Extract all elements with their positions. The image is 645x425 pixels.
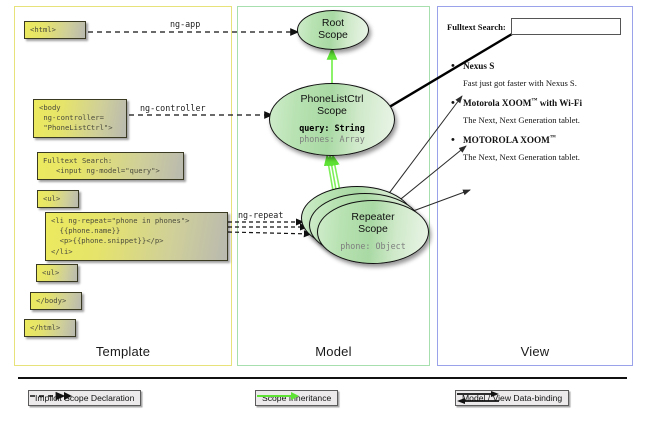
bidirectional-arrow-icon	[455, 390, 501, 406]
list-item[interactable]: Motorola XOOM™ with Wi-Fi The Next, Next…	[447, 98, 627, 125]
phone-name-suffix: with Wi-Fi	[537, 98, 582, 108]
view-search-label: Fulltext Search:	[447, 22, 506, 32]
code-box-body-close: </body>	[30, 292, 82, 310]
trademark-icon: ™	[550, 135, 556, 141]
code-box-ul-close: <ul>	[36, 264, 78, 282]
code-box-body-open: <body ng-controller= "PhoneListCtrl">	[33, 99, 127, 138]
legend-item-scope-inheritance: Scope Inheritance	[255, 390, 338, 406]
phone-list: Nexus S Fast just got faster with Nexus …	[447, 61, 627, 162]
fulltext-search-input[interactable]	[511, 18, 621, 35]
scope-repeater: Repeater Scope phone: Object	[317, 200, 429, 264]
scope-ctrl-title-line2: Scope	[317, 105, 347, 117]
phone-name-text: Motorola XOOM	[463, 98, 531, 108]
scope-repeater-prop-phone: phone: Object	[340, 241, 406, 252]
edge-label-ng-repeat: ng-repeat	[238, 210, 283, 220]
code-box-ul-open: <ul>	[37, 190, 79, 208]
phone-snippet: The Next, Next Generation tablet.	[447, 152, 627, 162]
edge-label-ng-app: ng-app	[170, 19, 200, 29]
connector-ng-repeat	[228, 222, 311, 234]
scope-root: Root Scope	[297, 10, 369, 50]
phone-snippet: Fast just got faster with Nexus S.	[447, 78, 627, 88]
view-search-row: Fulltext Search:	[447, 18, 627, 35]
scope-ctrl-title-line1: PhoneListCtrl	[300, 93, 363, 105]
dashed-arrow-icon	[28, 390, 74, 402]
scope-phonelistctrl: PhoneListCtrl Scope query: String phones…	[269, 83, 395, 156]
list-item[interactable]: MOTOROLA XOOM™ The Next, Next Generation…	[447, 135, 627, 162]
code-box-html-open: <html>	[24, 21, 86, 39]
code-box-html-close: </html>	[24, 319, 76, 337]
scope-ctrl-prop-query: query: String	[299, 123, 365, 134]
scope-repeater-title-line2: Scope	[358, 223, 388, 235]
legend-item-model-view-data-binding: Model / View Data-binding	[455, 390, 569, 406]
phone-name-text: Nexus S	[463, 61, 494, 71]
diagram-canvas: Template Model View	[0, 0, 645, 425]
green-arrow-icon	[255, 390, 301, 402]
code-box-li-ng-repeat: <li ng-repeat="phone in phones"> {{phone…	[45, 212, 228, 261]
code-box-search-input: Fulltext Search: <input ng-model="query"…	[37, 152, 184, 180]
phone-name: MOTOROLA XOOM™	[447, 135, 627, 145]
list-item[interactable]: Nexus S Fast just got faster with Nexus …	[447, 61, 627, 88]
view-content: Fulltext Search: Nexus S Fast just got f…	[447, 18, 627, 172]
phone-snippet: The Next, Next Generation tablet.	[447, 115, 627, 125]
legend-item-implicit-scope-declaration: Implicit Scope Declaration	[28, 390, 141, 406]
edge-label-ng-controller: ng-controller	[140, 103, 206, 113]
phone-name-text: MOTOROLA XOOM	[463, 135, 550, 145]
scope-ctrl-prop-phones: phones: Array	[299, 134, 365, 145]
scope-root-title-line2: Scope	[318, 29, 348, 41]
scope-root-title-line1: Root	[322, 17, 344, 29]
phone-name: Nexus S	[447, 61, 627, 71]
legend-divider	[18, 377, 627, 379]
scope-repeater-title-line1: Repeater	[351, 211, 394, 223]
phone-name: Motorola XOOM™ with Wi-Fi	[447, 98, 627, 108]
